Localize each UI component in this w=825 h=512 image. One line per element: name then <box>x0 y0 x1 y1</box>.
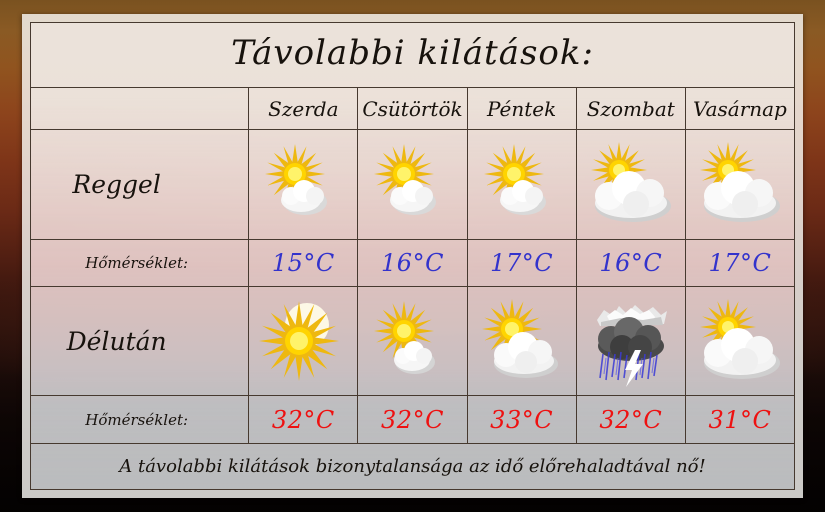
sun-small-cloud-icon <box>364 138 460 230</box>
morning-temperature-row: Hőmérséklet: 15°C 16°C 17°C 16°C 17°C <box>31 239 795 286</box>
afternoon-temp-cell-friday: 33°C <box>467 396 576 443</box>
forecast-frame: Távolabbi kilátások: Szerda Csütörtök Pé… <box>22 14 803 498</box>
temperature-value: 32°C <box>599 406 662 434</box>
temperature-value: 32°C <box>381 406 444 434</box>
sun-small-cloud-icon <box>474 138 570 230</box>
temperature-value: 31°C <box>708 406 771 434</box>
day-header-saturday: Szombat <box>576 88 685 130</box>
sun-medium-cloud-icon <box>472 295 572 387</box>
afternoon-label-cell: Délután <box>31 286 249 395</box>
afternoon-icon-cell-saturday <box>576 286 685 395</box>
morning-temp-cell-friday: 17°C <box>467 239 576 286</box>
day-label: Szombat <box>587 97 675 121</box>
morning-label-cell: Reggel <box>31 130 249 239</box>
afternoon-icon-row: Délután <box>31 286 795 395</box>
page-title: Távolabbi kilátások: <box>231 33 594 73</box>
sun-small-cloud-icon <box>364 295 460 387</box>
afternoon-temp-cell-wednesday: 32°C <box>249 396 358 443</box>
temperature-value: 17°C <box>708 249 771 277</box>
sun-behind-large-cloud-icon <box>581 138 681 230</box>
morning-temp-cell-saturday: 16°C <box>576 239 685 286</box>
day-header-wednesday: Szerda <box>249 88 358 130</box>
morning-icon-cell-sunday <box>685 130 794 239</box>
afternoon-temp-cell-saturday: 32°C <box>576 396 685 443</box>
day-label: Szerda <box>268 97 338 121</box>
forecast-table: Távolabbi kilátások: Szerda Csütörtök Pé… <box>30 22 795 490</box>
afternoon-temp-label: Hőmérséklet: <box>85 411 188 429</box>
afternoon-label: Délután <box>67 327 213 356</box>
morning-temp-cell-thursday: 16°C <box>358 239 467 286</box>
title-row: Távolabbi kilátások: <box>31 23 795 88</box>
temperature-value: 17°C <box>490 249 553 277</box>
footer-note: A távolabbi kilátások bizonytalansága az… <box>119 456 706 477</box>
title-cell: Távolabbi kilátások: <box>31 23 795 88</box>
morning-temp-label-cell: Hőmérséklet: <box>31 239 249 286</box>
day-header-row: Szerda Csütörtök Péntek Szombat Vasárnap <box>31 88 795 130</box>
day-header-sunday: Vasárnap <box>685 88 794 130</box>
morning-icon-row: Reggel <box>31 130 795 239</box>
day-header-thursday: Csütörtök <box>358 88 467 130</box>
temperature-value: 16°C <box>381 249 444 277</box>
temperature-value: 33°C <box>490 406 553 434</box>
sun-behind-large-cloud-icon <box>690 295 790 387</box>
afternoon-icon-cell-thursday <box>358 286 467 395</box>
morning-icon-cell-wednesday <box>249 130 358 239</box>
morning-icon-cell-saturday <box>576 130 685 239</box>
footer-cell: A távolabbi kilátások bizonytalansága az… <box>31 443 795 489</box>
sun-clear-icon <box>255 293 351 389</box>
temperature-value: 16°C <box>599 249 662 277</box>
sun-small-cloud-icon <box>255 138 351 230</box>
afternoon-temp-label-cell: Hőmérséklet: <box>31 396 249 443</box>
afternoon-icon-cell-sunday <box>685 286 794 395</box>
footer-row: A távolabbi kilátások bizonytalansága az… <box>31 443 795 489</box>
afternoon-temperature-row: Hőmérséklet: 32°C 32°C 33°C 32°C 31°C <box>31 396 795 443</box>
day-label: Vasárnap <box>693 97 787 121</box>
morning-temp-label: Hőmérséklet: <box>85 254 188 272</box>
morning-temp-cell-sunday: 17°C <box>685 239 794 286</box>
afternoon-temp-cell-thursday: 32°C <box>358 396 467 443</box>
day-label: Csütörtök <box>362 97 462 121</box>
thunderstorm-icon <box>581 292 681 390</box>
morning-temp-cell-wednesday: 15°C <box>249 239 358 286</box>
afternoon-temp-cell-sunday: 31°C <box>685 396 794 443</box>
afternoon-icon-cell-wednesday <box>249 286 358 395</box>
morning-label: Reggel <box>72 170 206 199</box>
morning-icon-cell-friday <box>467 130 576 239</box>
afternoon-icon-cell-friday <box>467 286 576 395</box>
temperature-value: 15°C <box>272 249 335 277</box>
day-header-friday: Péntek <box>467 88 576 130</box>
morning-icon-cell-thursday <box>358 130 467 239</box>
day-label: Péntek <box>487 97 556 121</box>
temperature-value: 32°C <box>272 406 335 434</box>
header-corner-cell <box>31 88 249 130</box>
sun-behind-large-cloud-icon <box>690 138 790 230</box>
